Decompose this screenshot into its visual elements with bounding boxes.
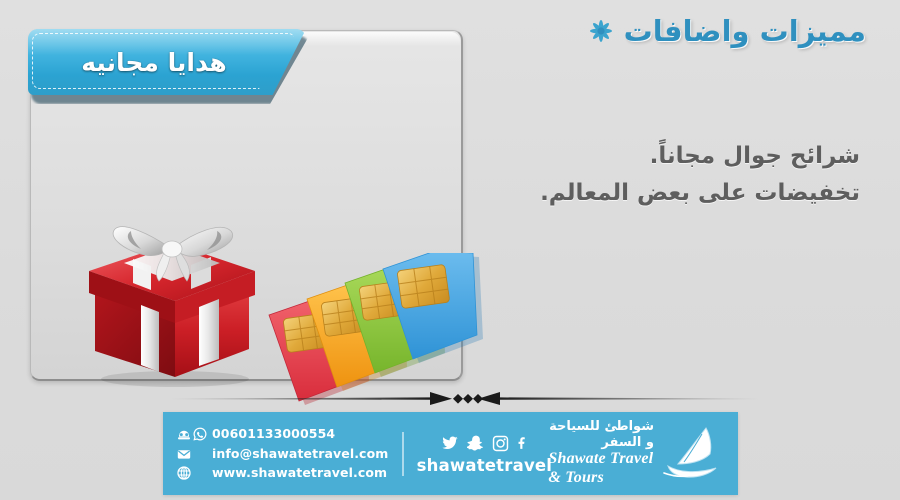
brand-wordmark: شواطئ للسياحة و السفر Shawate Travel & T… [548, 419, 654, 487]
snapchat-icon[interactable] [467, 434, 485, 452]
features-text-block: شرائح جوال مجاناً. تخفيضات على بعض المعا… [440, 138, 860, 213]
ornamental-divider-icon [0, 388, 900, 410]
brand-logo-block: شواطئ للسياحة و السفر Shawate Travel & T… [548, 419, 738, 487]
phone-icons-group [177, 427, 207, 441]
instagram-icon[interactable] [492, 435, 509, 452]
envelope-icon [177, 447, 191, 461]
gift-box-icon [79, 199, 265, 389]
contact-info: 00601133000554 info@shawatetravel.com [163, 424, 388, 483]
twitter-icon[interactable] [440, 435, 460, 452]
globe-icon [177, 466, 191, 480]
social-icons-row [440, 432, 528, 454]
brand-name-arabic: شواطئ للسياحة و السفر [548, 419, 654, 450]
feature-line-2: تخفيضات على بعض المعالم. [440, 175, 860, 212]
telephone-icon [177, 427, 191, 441]
footer-divider [402, 432, 404, 476]
social-handle: shawatetravel [417, 456, 553, 475]
headline-title: مميزات واضافات [624, 14, 866, 48]
brand-name-english: Shawate Travel & Tours [548, 450, 654, 488]
social-media-block: shawatetravel [420, 432, 548, 475]
facebook-icon[interactable] [516, 434, 528, 452]
phone-number: 00601133000554 [212, 424, 335, 444]
contact-email-row[interactable]: info@shawatetravel.com [177, 444, 388, 464]
contact-phone-row[interactable]: 00601133000554 [177, 424, 388, 444]
flower-asterisk-icon [588, 18, 614, 44]
sim-cards-icon [259, 253, 483, 405]
feature-line-1: شرائح جوال مجاناً. [440, 138, 860, 175]
email-icon-group [177, 447, 207, 461]
gifts-ribbon-header: هدايا مجانيه [28, 29, 310, 99]
footer-bar: 00601133000554 info@shawatetravel.com [163, 412, 738, 495]
email-address: info@shawatetravel.com [212, 444, 388, 464]
website-icon-group [177, 466, 207, 480]
website-url: www.shawatetravel.com [212, 463, 387, 483]
headline: مميزات واضافات [588, 14, 866, 48]
contact-website-row[interactable]: www.shawatetravel.com [177, 463, 388, 483]
poster-canvas: هدايا مجانيه مميزات واضافات شرائح جوال م… [0, 0, 900, 500]
whatsapp-icon [193, 427, 207, 441]
ribbon-title: هدايا مجانيه [28, 29, 280, 95]
sailboat-logo-icon [662, 426, 724, 482]
